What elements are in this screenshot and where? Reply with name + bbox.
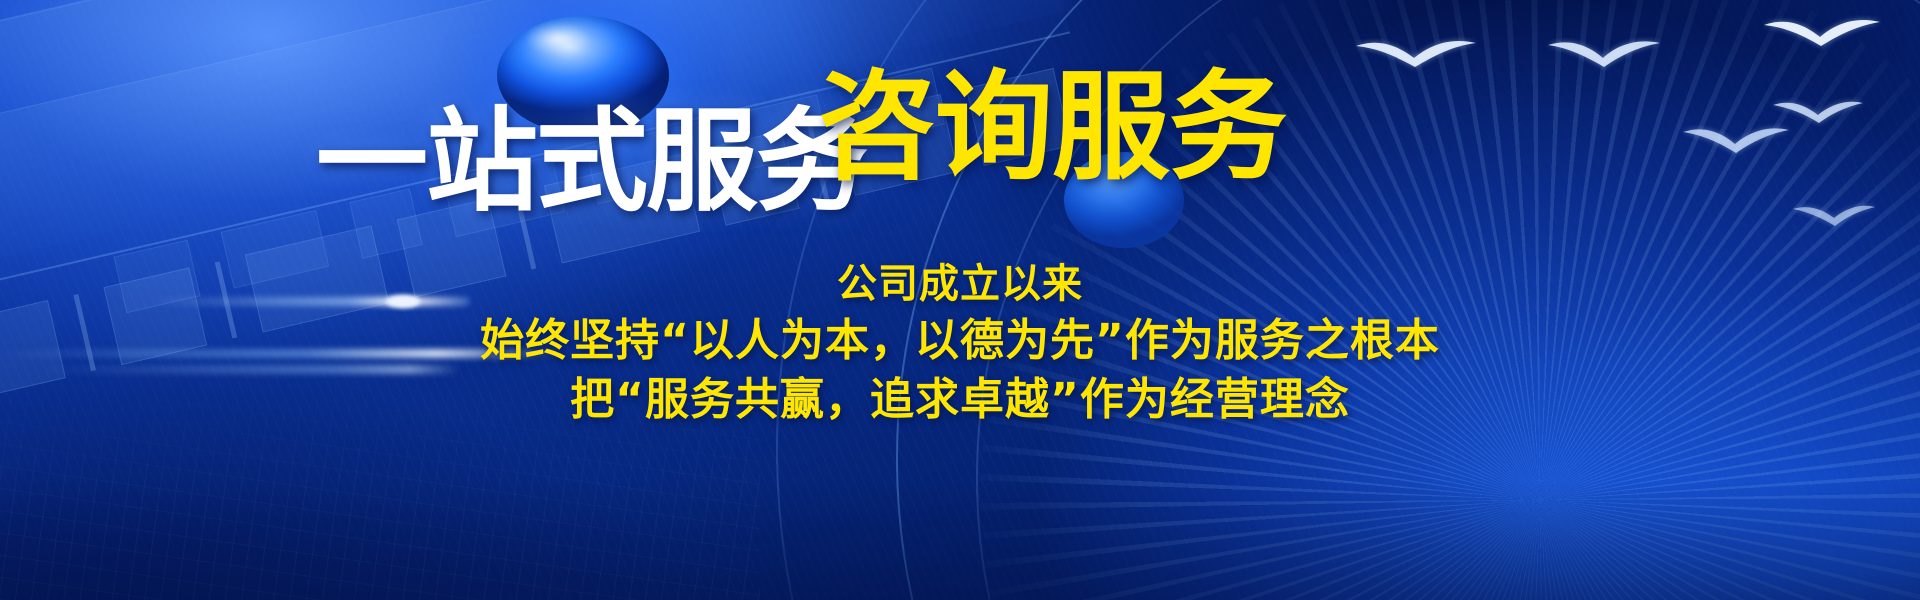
bottom-fade (0, 480, 1920, 600)
body-line-2: 始终坚持“以人为本，以德为先”作为服务之根本 (0, 312, 1920, 371)
headline-yellow: 咨询服务 (818, 68, 1286, 186)
promo-banner: 一站式服务 咨询服务 公司成立以来 始终坚持“以人为本，以德为先”作为服务之根本… (0, 0, 1920, 600)
body-line-3: 把“服务共赢，追求卓越”作为经营理念 (0, 371, 1920, 430)
body-line-1: 公司成立以来 (0, 258, 1920, 312)
body-copy: 公司成立以来 始终坚持“以人为本，以德为先”作为服务之根本 把“服务共赢，追求卓… (0, 258, 1920, 430)
headline-white: 一站式服务 (316, 106, 866, 218)
